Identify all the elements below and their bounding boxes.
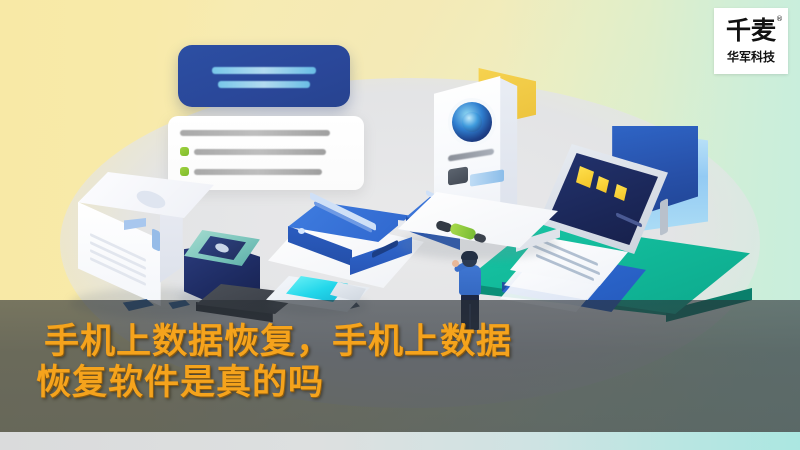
headline-line-2: 恢复软件是真的吗 <box>36 363 744 404</box>
screenshot-canvas: 手机上数据恢复，手机上数据 恢复软件是真的吗 千麦 ® 华军科技 <box>0 0 800 450</box>
logo-brand-text: 千麦 ® <box>726 18 776 43</box>
text-panel-row-2 <box>180 136 364 156</box>
text-panel-line-1 <box>180 130 330 136</box>
illustration-info-card <box>178 45 350 107</box>
camera-lens-icon <box>452 102 492 142</box>
info-card-title-line-1 <box>212 67 316 74</box>
camera-panel-stand <box>398 180 558 260</box>
headline-line-1: 手机上数据恢复，手机上数据 <box>44 322 744 363</box>
check-bullet-icon <box>180 147 189 156</box>
text-panel-row-1 <box>180 116 364 136</box>
headline-text: 手机上数据恢复，手机上数据 恢复软件是真的吗 <box>44 322 744 403</box>
bottom-color-band <box>0 432 800 450</box>
brand-logo: 千麦 ® 华军科技 <box>714 8 788 74</box>
logo-subtitle: 华军科技 <box>727 48 775 65</box>
info-card-title-line-2 <box>218 81 310 88</box>
blue-external-hard-drive <box>288 202 410 272</box>
text-panel-line-2 <box>194 149 326 155</box>
registered-trademark-icon: ® <box>776 16 783 23</box>
logo-brand-label: 千麦 <box>726 16 776 45</box>
